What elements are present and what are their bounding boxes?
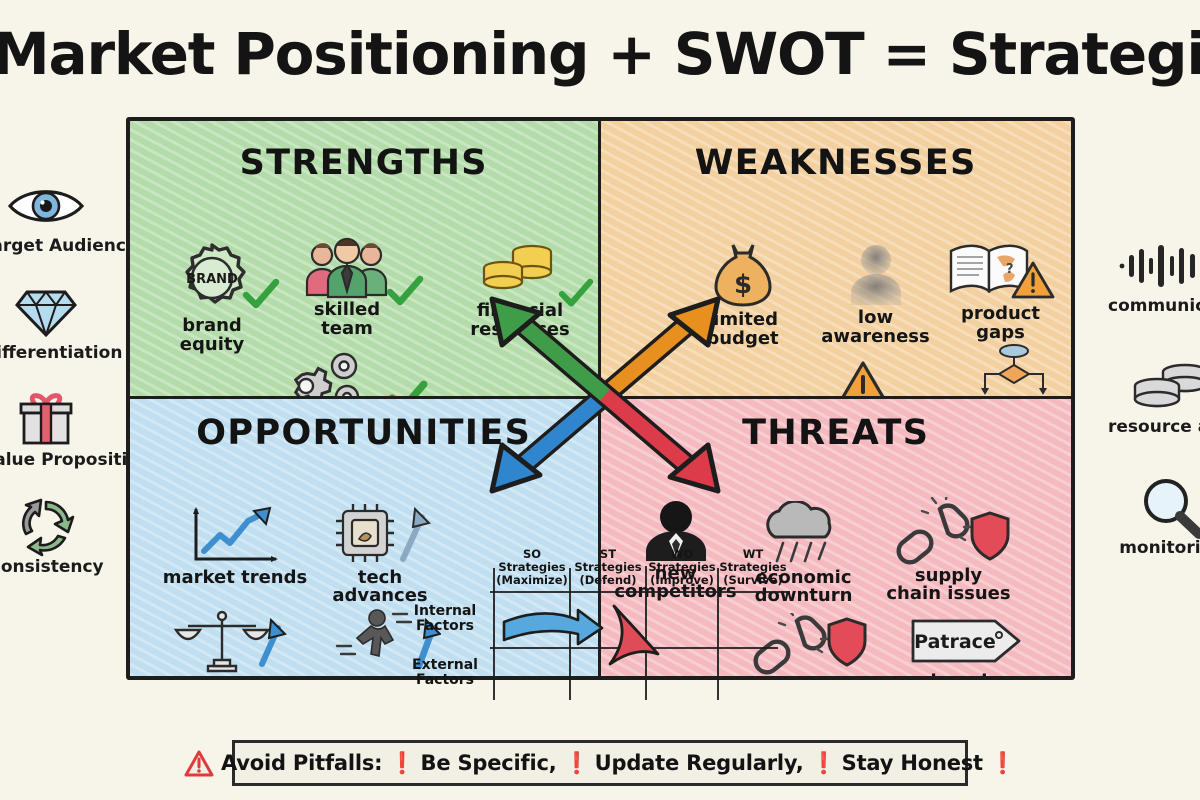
price-tag-text: Patrace [914,631,996,653]
center-crossing-arrows [470,295,740,495]
svg-text:?: ? [1006,262,1014,277]
item-operational-efficiency: operational efficiency [248,350,400,399]
brand-seal-text: BRAND [186,272,238,287]
warning-triangle-icon [833,359,893,399]
rail-label: Differentiation [0,344,110,362]
banner-tip-label: Update Regularly, [595,751,804,775]
tows-matrix: SO Strategies (Maximize) ST Strategies (… [418,548,790,700]
banner-lead: Avoid Pitfalls: [221,751,382,775]
rail-item-resource-allocation: resource allocation [1108,359,1200,436]
item-label: product gaps [937,305,1065,343]
infographic-canvas: Market Positioning + SWOT = Strategic Ad… [0,0,1200,800]
tows-col-wt: WT Strategies (Survive) [716,548,790,587]
rail-item-differentiation: Differentiation [0,285,110,362]
rail-item-target-audience: Target Audience [0,178,110,255]
item-label: regulatory changes [144,676,314,677]
quadrant-title-weaknesses: WEAKNESSES [601,143,1072,183]
coins-icon [1108,359,1200,415]
right-sidebar: communication resource allocation [1108,238,1200,575]
faded-person-icon [811,241,941,307]
tows-row-external: External Factors [408,658,482,689]
diamond-icon [0,285,110,341]
item-market-trends: market trends [150,505,320,588]
exclamation-icon: ❗ [811,751,837,776]
item-label: supply chain issues [869,567,1029,605]
quadrant-title-strengths: STRENGTHS [130,143,598,183]
rail-label: monitoring [1108,539,1200,557]
growth-chart-icon [150,505,320,567]
banner-tip-label: Stay Honest [842,751,983,775]
rail-item-monitoring: monitoring [1108,480,1200,557]
gears-icon [248,350,400,399]
left-sidebar: Target Audience Differentiation Valu [0,178,110,594]
shield-icon [829,619,865,665]
rail-item-value-proposition: Value Proposition [0,392,110,469]
item-label: market trends [150,569,320,588]
shield-icon [972,513,1008,559]
exclamation-icon: ❗ [389,751,415,776]
exclamation-icon: ❗ [564,751,590,776]
flowchart-icon [953,343,1072,399]
rail-label: communication [1108,297,1200,315]
page-title: Market Positioning + SWOT = Strategic Ad… [0,20,1200,88]
item-process-issues: process issues [953,343,1072,399]
tows-col-st: ST Strategies (Defend) [570,548,646,587]
tows-col-wo: WO Strategies (Improve) [646,548,718,587]
rail-item-communication: communication [1108,238,1200,315]
check-icon [388,380,428,399]
check-icon [386,275,424,309]
check-icon [242,278,280,312]
item-regulatory-changes: regulatory changes [144,608,314,677]
banner-tip-3: ❗ Stay Honest [811,751,983,776]
pitfalls-banner: Avoid Pitfalls: ❗ Be Specific, ❗ Update … [232,740,968,786]
item-label: changing preferences [887,673,1047,677]
open-book-icon: ? [937,235,1065,303]
gift-icon [0,392,110,448]
scales-icon [144,608,314,674]
item-label: low awareness [811,309,941,347]
eye-icon [0,178,110,234]
item-supply-chain-issues-1: supply chain issues [869,497,1029,605]
check-strengths-1 [242,278,280,316]
broken-chain-icon [869,497,1029,565]
rail-label: resource allocation [1108,418,1200,436]
item-changing-preferences: Patrace changing preferences [887,613,1047,677]
rail-label: Target Audience [0,237,110,255]
check-strengths-4 [388,380,428,399]
check-strengths-2 [386,275,424,313]
waveform-icon [1108,238,1200,294]
exclamation-icon-end: ❗ [990,751,1016,776]
recycle-icon [0,499,110,555]
price-tag-icon: Patrace [887,613,1047,671]
rail-item-consistency: Consistency [0,499,110,576]
item-product-gaps: ? product gaps [937,235,1065,343]
tows-red-arrow [610,606,658,664]
rail-label: Consistency [0,558,110,576]
banner-tip-label: Be Specific, [421,751,557,775]
tows-col-so: SO Strategies (Maximize) [494,548,570,587]
banner-tip-2: ❗ Update Regularly, [564,751,804,776]
tows-blue-arrow [504,610,602,644]
item-low-awareness: low awareness [811,241,941,347]
magnifier-icon [1108,480,1200,536]
item-warning-standalone [833,359,893,399]
tows-row-internal: Internal Factors [408,604,482,635]
banner-tip-1: ❗ Be Specific, [389,751,556,776]
rail-label: Value Proposition [0,451,110,469]
warning-triangle-icon [184,750,214,777]
